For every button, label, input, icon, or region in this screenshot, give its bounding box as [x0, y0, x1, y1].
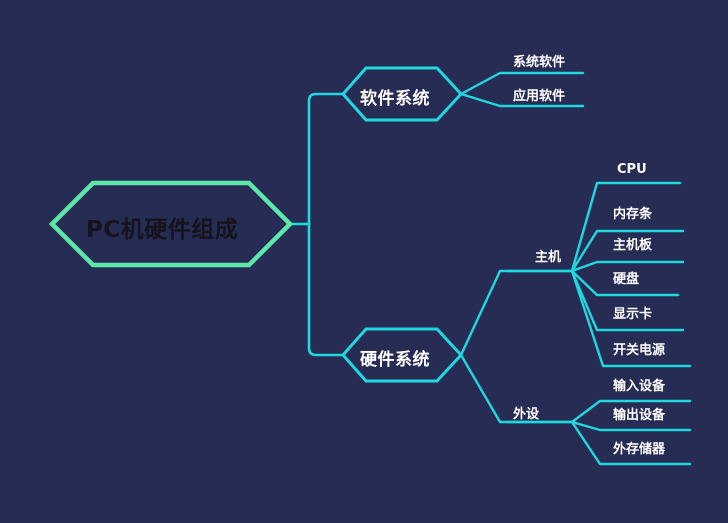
- edge-zhuji-to-cpu: [572, 183, 680, 271]
- mindmap-canvas: PC机硬件组成 软件系统 硬件系统 主机 外设 系统软件 应用软件 CPU 内存…: [0, 0, 728, 523]
- edge-waishe-to-shuchushebei: [572, 422, 690, 430]
- edge-root-bracket: [309, 94, 343, 224]
- edge-zhuji-to-zhujiban: [572, 262, 683, 271]
- edge-root-bracket-lower: [309, 224, 343, 355]
- edge-software-to-xitongruanjian: [461, 73, 583, 94]
- edge-zhuji-to-yingpan: [572, 271, 678, 295]
- hardware-hexagon[interactable]: [343, 329, 461, 381]
- edge-software-to-yingyongruanjian: [461, 94, 583, 106]
- edge-zhuji-to-kaiguandianyuan: [572, 271, 690, 366]
- root-hexagon[interactable]: [52, 183, 290, 265]
- edge-hardware-to-waishe: [461, 355, 572, 422]
- edge-hardware-to-zhuji: [461, 271, 572, 355]
- mindmap-svg: [0, 0, 728, 523]
- software-hexagon[interactable]: [343, 68, 461, 120]
- edge-waishe-to-shurushebei: [572, 401, 690, 422]
